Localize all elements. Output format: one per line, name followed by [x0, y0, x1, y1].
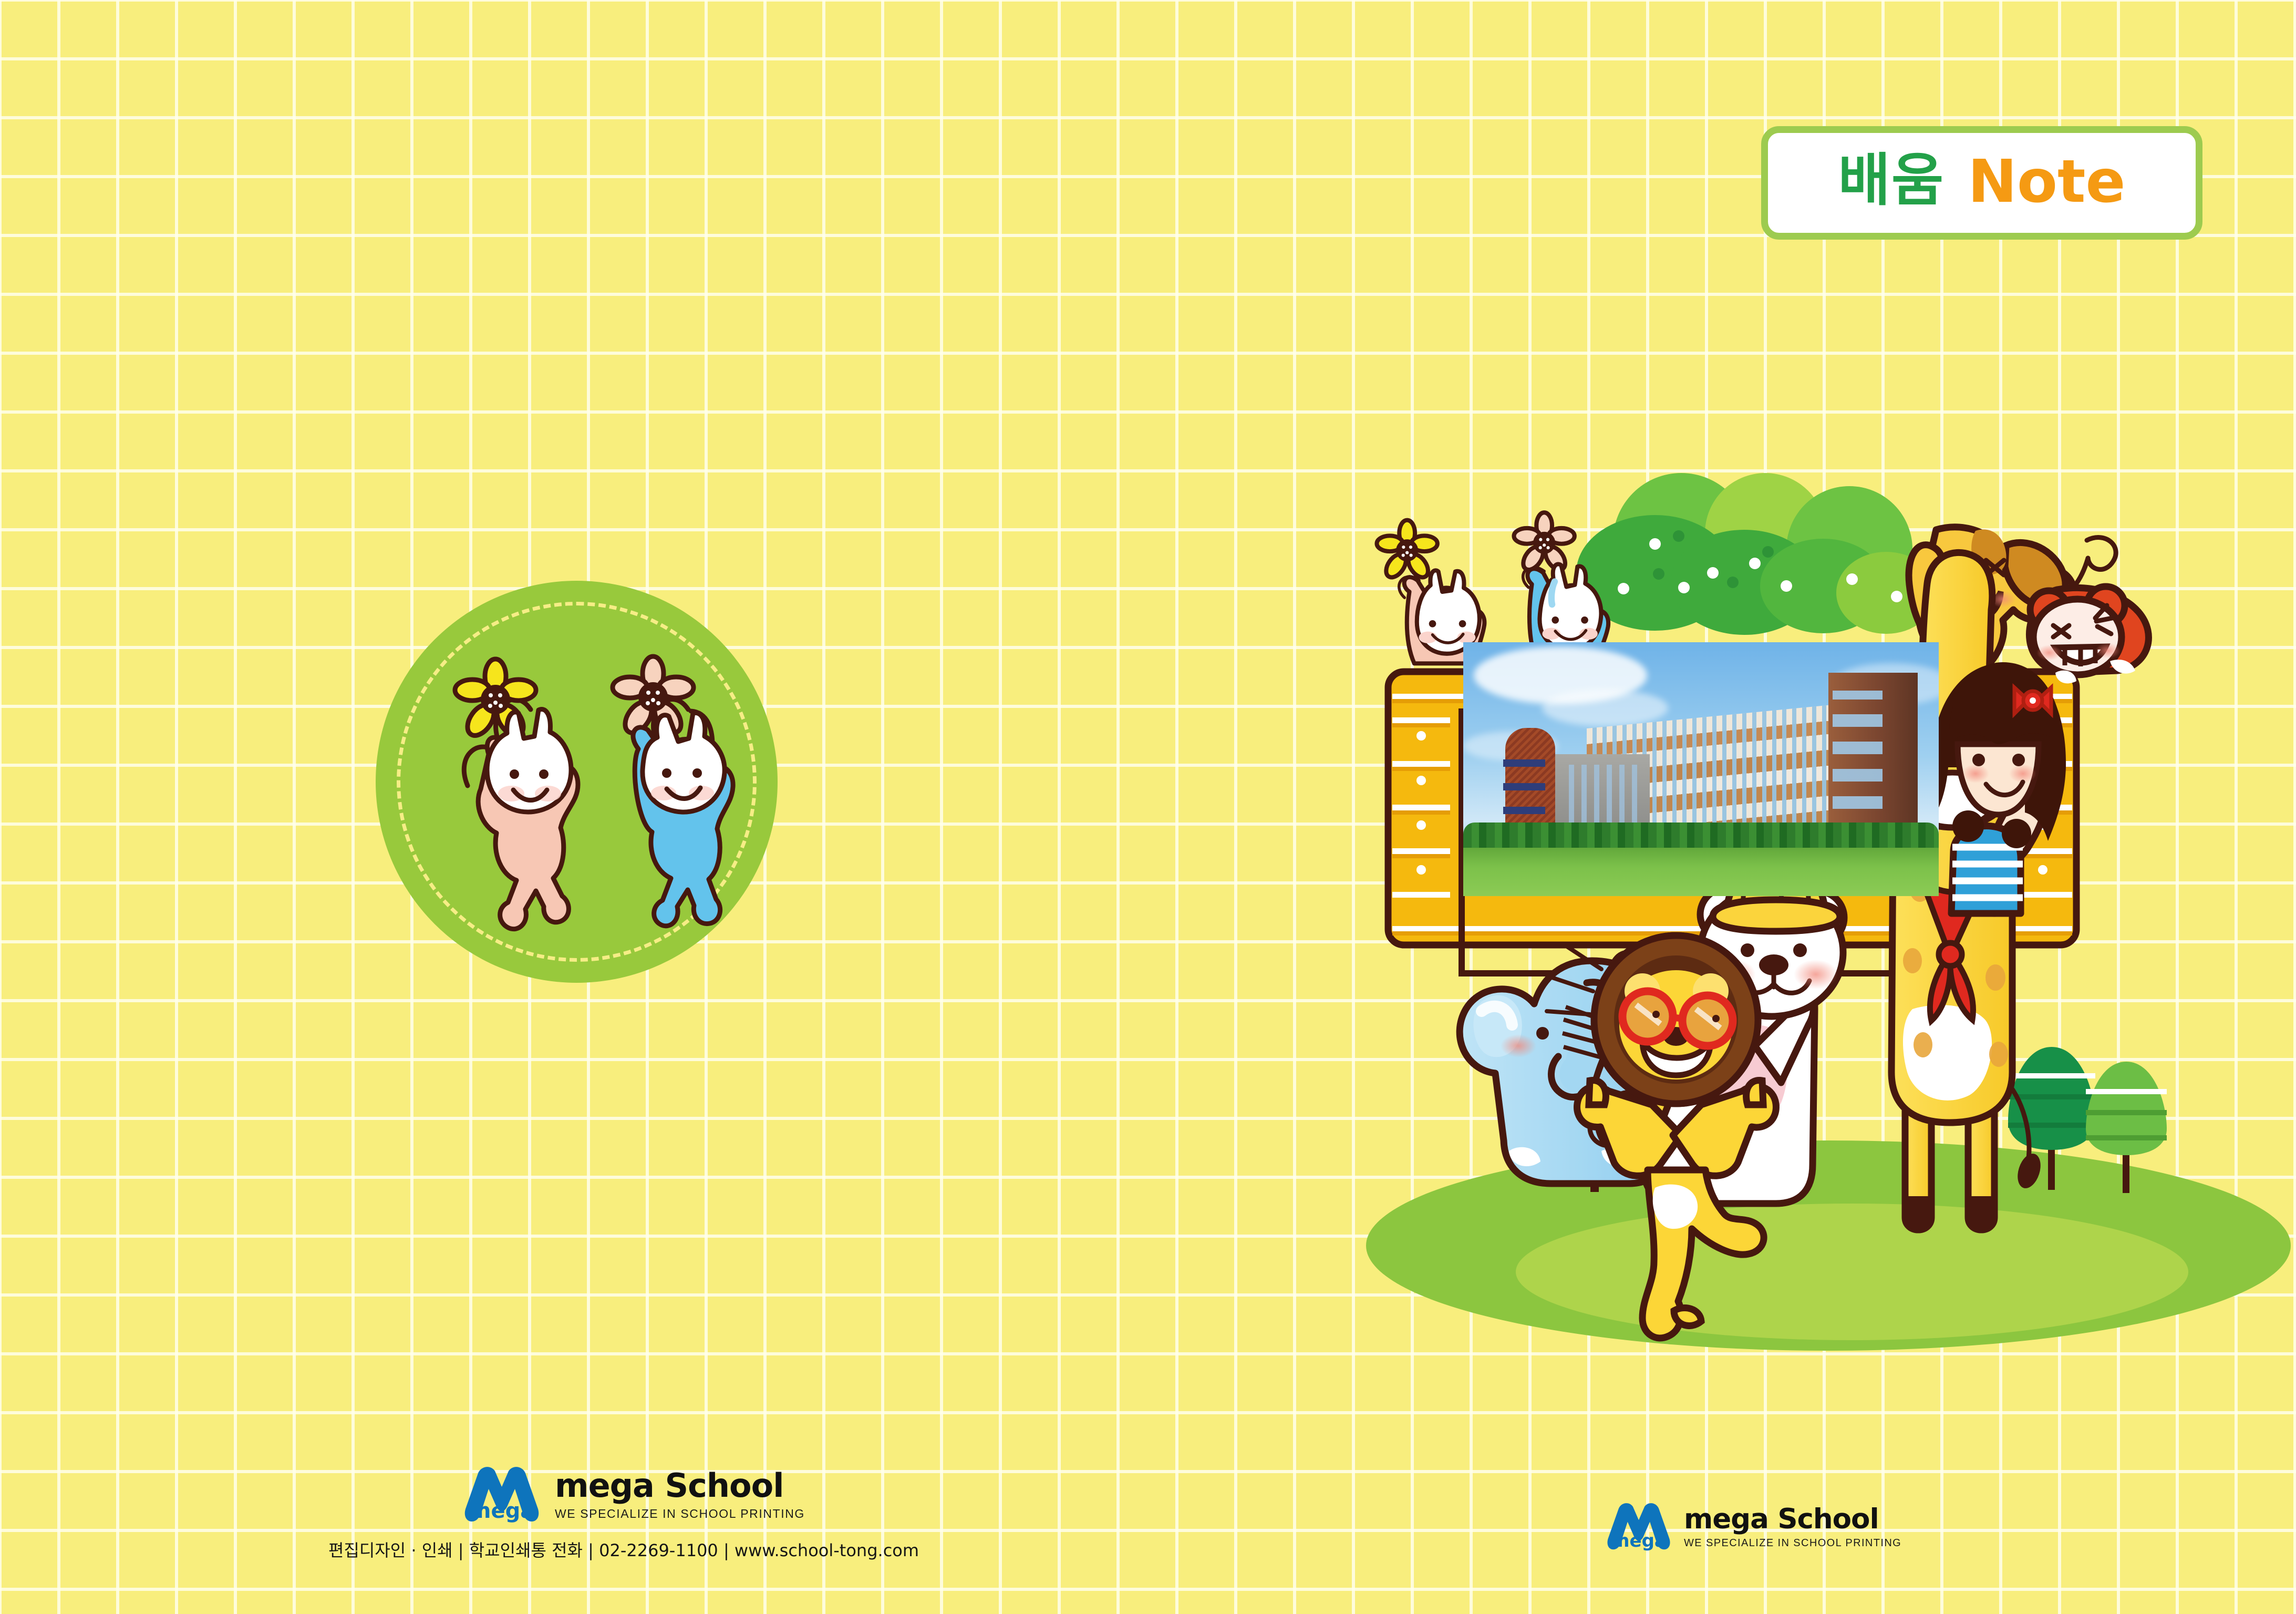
footer-contact-line: 편집디자인 · 인쇄 | 학교인쇄통 전화 | 02-2269-1100 | w…: [328, 1537, 854, 1561]
footer-left-brand: mega School: [555, 1469, 805, 1502]
footer-right-brand: mega School: [1684, 1505, 1901, 1533]
footer-left-tagline: WE SPECIALIZE IN SCHOOL PRINTING: [555, 1508, 805, 1520]
school-building-photo: [1463, 642, 1939, 896]
sticker-characters: [376, 581, 778, 983]
pink-bunny: [455, 659, 578, 929]
bush-cluster: [1576, 473, 1936, 635]
footer-right-tagline: WE SPECIALIZE IN SCHOOL PRINTING: [1684, 1538, 1901, 1548]
scene-vector: [1292, 452, 2296, 1377]
mega-logo-mark: mega: [462, 1464, 541, 1526]
bunny-sticker: [376, 581, 778, 983]
flower-yellow-small: [1377, 520, 1437, 581]
footer-left-logo: mega mega School WE SPECIALIZE IN SCHOOL…: [462, 1464, 805, 1526]
footer-right-logo: mega mega School WE SPECIALIZE IN SCHOOL…: [1605, 1500, 1901, 1553]
title-badge: 배움 Note: [1761, 126, 2202, 240]
mega-logo-word-right: mega: [1611, 1530, 1667, 1551]
flower-peach-small: [1514, 512, 1575, 573]
mega-logo-mark-right: mega: [1605, 1500, 1672, 1553]
ground: [1366, 1140, 2291, 1351]
title-korean-text: 배움: [1838, 152, 1945, 209]
school-billboard-scene: [1292, 452, 2296, 1377]
blue-bunny: [613, 656, 733, 926]
mega-logo-word: mega: [469, 1499, 534, 1523]
hair-bow: [2014, 687, 2051, 714]
title-english-text: Note: [1968, 152, 2125, 211]
